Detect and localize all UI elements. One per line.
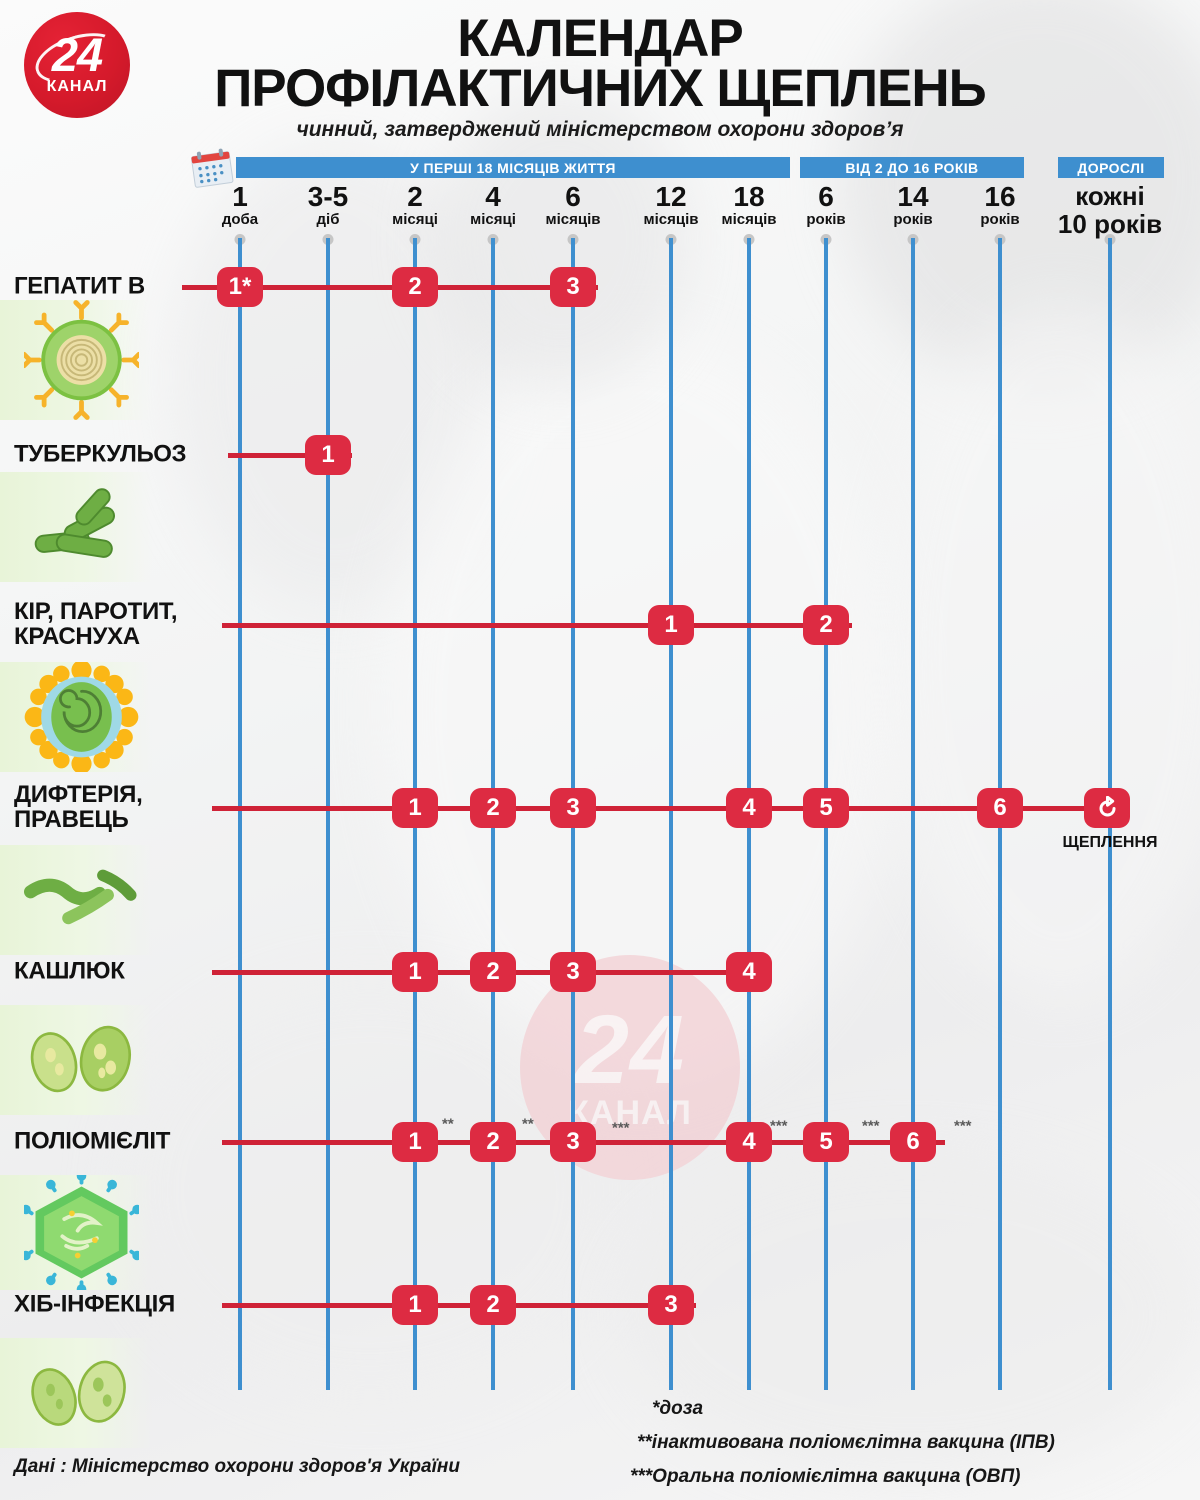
column-head-y14: 14років (893, 183, 932, 228)
column-unit-m18: місяців (722, 212, 777, 229)
footnote-dose: *доза (652, 1398, 703, 1420)
column-unit-y16: років (980, 212, 1019, 229)
footnote-opv: ***Оральна поліомієлітна вакцина (ОВП) (630, 1466, 1021, 1488)
dose-badge-polio-5[interactable]: 5 (803, 1122, 849, 1162)
age-group-band-1: ВІД 2 ДО 16 РОКІВ (800, 157, 1024, 178)
background-photo-area (620, 1150, 1200, 1480)
dose-badge-hib-2[interactable]: 2 (470, 1285, 516, 1325)
dose-badge-hib-1[interactable]: 1 (392, 1285, 438, 1325)
age-group-band-0: У ПЕРШІ 18 МІСЯЦІВ ЖИТТЯ (236, 157, 790, 178)
dose-badge-hepb-2[interactable]: 2 (392, 267, 438, 307)
column-rule-d1 (238, 238, 242, 1390)
column-value-m2: 2 (392, 183, 438, 212)
dose-note-polio-1: ** (522, 1116, 534, 1133)
source-note: Дані : Міністерство охорони здоров'я Укр… (14, 1456, 460, 1478)
row-timeline-hib (222, 1303, 696, 1308)
column-rule-m12 (669, 238, 673, 1390)
column-unit-d35: діб (308, 212, 348, 229)
dose-badge-dtp-3[interactable]: 3 (550, 788, 596, 828)
diphtheria-bacillus-icon (24, 845, 139, 955)
calendar-icon (190, 148, 234, 188)
column-head-y6: 6років (806, 183, 845, 228)
column-rule-y14 (911, 238, 915, 1390)
dose-badge-pertussis-3[interactable]: 3 (550, 952, 596, 992)
column-value-y16: 16 (980, 183, 1019, 212)
dose-badge-dtp-5[interactable]: 5 (803, 788, 849, 828)
dose-note-polio-4: *** (862, 1118, 880, 1135)
column-head-m18: 18місяців (722, 183, 777, 228)
tuberculosis-bacteria-icon (24, 472, 139, 582)
infographic-canvas: 24 КАНАЛ 24 КАНАЛ КАЛЕНДАР ПРОФІЛАКТИЧНИ… (0, 0, 1200, 1500)
column-head-y16: 16років (980, 183, 1019, 228)
dose-badge-mmr-2[interactable]: 2 (803, 605, 849, 645)
dose-note-polio-0: ** (442, 1116, 454, 1133)
dose-badge-polio-4[interactable]: 4 (726, 1122, 772, 1162)
age-group-band-2: ДОРОСЛІ (1058, 157, 1164, 178)
column-head-m6: 6місяців (546, 183, 601, 228)
footnote-ipv: **інактивована поліомєлітна вакцина (ІПВ… (637, 1432, 1055, 1454)
dose-badge-pertussis-2[interactable]: 2 (470, 952, 516, 992)
hib-bacteria-icon (24, 1338, 139, 1448)
dose-badge-tuberculosis-1[interactable]: 1 (305, 435, 351, 475)
disease-label-dtp: ДИФТЕРІЯ, ПРАВЕЦЬ (14, 783, 142, 833)
dose-badge-hepb-1star[interactable]: 1* (217, 267, 263, 307)
column-value-d35: 3-5 (308, 183, 348, 212)
column-unit-m2: місяці (392, 212, 438, 229)
column-value-adult: кожні (1058, 183, 1162, 210)
dose-badge-dtp-4[interactable]: 4 (726, 788, 772, 828)
measles-virus-icon (24, 662, 139, 772)
dose-badge-polio-2[interactable]: 2 (470, 1122, 516, 1162)
pertussis-bacteria-icon (24, 1005, 139, 1115)
column-value-m4: 4 (470, 183, 516, 212)
column-head-adult: кожні10 років (1058, 183, 1162, 238)
dose-note-polio-2: *** (612, 1120, 630, 1137)
poliovirus-icon (24, 1175, 139, 1290)
disease-label-hepb: ГЕПАТИТ B (14, 275, 145, 300)
column-value-m6: 6 (546, 183, 601, 212)
column-value-d1: 1 (222, 183, 258, 212)
column-value-m12: 12 (644, 183, 699, 212)
column-unit-y14: років (893, 212, 932, 229)
dose-badge-hepb-3[interactable]: 3 (550, 267, 596, 307)
dose-badge-pertussis-1[interactable]: 1 (392, 952, 438, 992)
column-head-d35: 3-5діб (308, 183, 348, 228)
dose-badge-polio-3[interactable]: 3 (550, 1122, 596, 1162)
column-unit-m12: місяців (644, 212, 699, 229)
disease-label-tuberculosis: ТУБЕРКУЛЬОЗ (14, 443, 186, 468)
page-subtitle: чинний, затверджений міністерством охоро… (0, 118, 1200, 142)
dose-badge-dtp-1[interactable]: 1 (392, 788, 438, 828)
dose-badge-dtp-2[interactable]: 2 (470, 788, 516, 828)
column-head-m4: 4місяці (470, 183, 516, 228)
column-unit-m6: місяців (546, 212, 601, 229)
column-head-m12: 12місяців (644, 183, 699, 228)
dose-note-polio-3: *** (770, 1118, 788, 1135)
background-photo-area (880, 300, 1200, 1000)
column-unit-y6: років (806, 212, 845, 229)
dose-badge-polio-6[interactable]: 6 (890, 1122, 936, 1162)
column-rule-d35 (326, 238, 330, 1390)
disease-label-pertussis: КАШЛЮК (14, 960, 125, 985)
column-head-m2: 2місяці (392, 183, 438, 228)
dose-badge-mmr-1[interactable]: 1 (648, 605, 694, 645)
dose-badge-dtp-6[interactable]: 6 (977, 788, 1023, 828)
dose-note-polio-5: *** (954, 1118, 972, 1135)
dose-badge-polio-1[interactable]: 1 (392, 1122, 438, 1162)
page-title-line-2: ПРОФІЛАКТИЧНИХ ЩЕПЛЕНЬ (0, 58, 1200, 119)
dose-badge-pertussis-4[interactable]: 4 (726, 952, 772, 992)
disease-label-mmr: КІР, ПАРОТИТ, КРАСНУХА (14, 600, 177, 650)
revaccination-label: ЩЕПЛЕННЯ (1063, 834, 1158, 852)
column-unit-m4: місяці (470, 212, 516, 229)
disease-label-polio: ПОЛІОМІЄЛІТ (14, 1130, 170, 1155)
row-timeline-mmr (222, 623, 852, 628)
column-unit-d1: доба (222, 212, 258, 229)
hepatitis-b-virus-icon (24, 300, 139, 420)
disease-label-hib: ХІБ-ІНФЕКЦІЯ (14, 1293, 175, 1318)
column-head-d1: 1доба (222, 183, 258, 228)
column-value-y6: 6 (806, 183, 845, 212)
dose-badge-hib-3[interactable]: 3 (648, 1285, 694, 1325)
revaccination-refresh-icon[interactable] (1084, 788, 1130, 828)
column-value-m18: 18 (722, 183, 777, 212)
column-value-y14: 14 (893, 183, 932, 212)
